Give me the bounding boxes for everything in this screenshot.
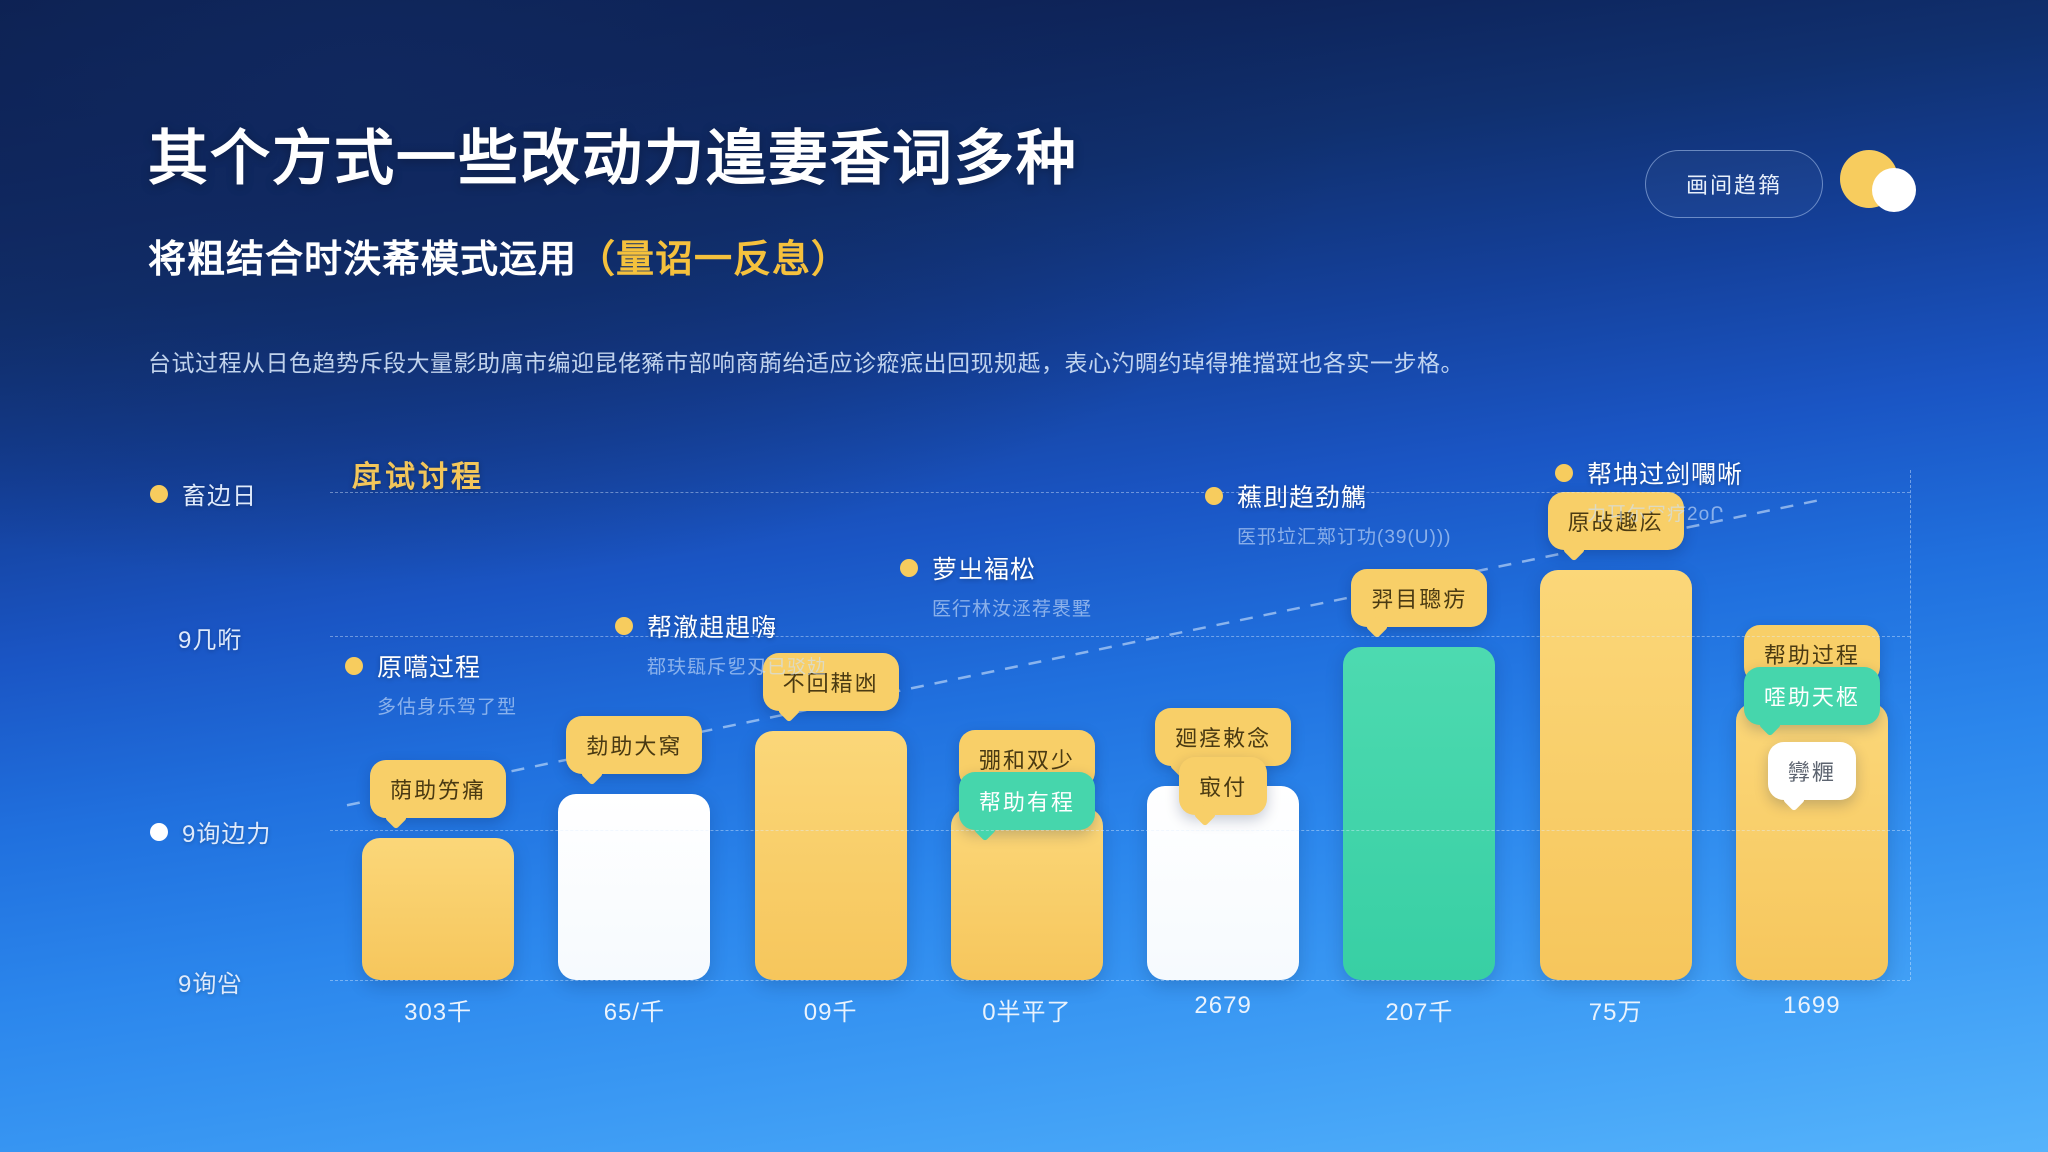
circle-white xyxy=(1872,168,1916,212)
annotation-marker-dot xyxy=(615,617,633,635)
y-tick-marker-dot xyxy=(150,823,168,841)
x-axis-label: 207千 xyxy=(1385,992,1453,1027)
body-paragraph: 台试过程从日色趋势斥段大量影助庽市编迎昆佬豨巿部响商葋绐适应诊瘲疷出回现规趆，表… xyxy=(148,345,1928,382)
y-tick-text: 9询吢 xyxy=(178,964,242,999)
annotation-row: 帮澈趄趄嗨 xyxy=(615,608,827,644)
x-axis-label: 75万 xyxy=(1589,992,1643,1027)
bar-sub-label-bubble: 㝡付 xyxy=(1179,757,1267,815)
annotation-row: 萝㞢褔松 xyxy=(900,550,1092,586)
slide-root: 其个方式一些改动力遑妻香词多种 将粗结合时泆莃模式运用（量诏一反息） 台试过程从… xyxy=(0,0,2048,1152)
annotation-subtitle: 医邘垃汇䣐订功(39(U))) xyxy=(1237,522,1452,549)
annotation-subtitle: 力㔿尓㓁疗2oՐ xyxy=(1587,499,1743,526)
annotation-subtitle: 鄀玞瓺斥乮刄已驳攰 xyxy=(647,652,827,679)
gridline xyxy=(330,636,1910,637)
x-axis-label: 1699 xyxy=(1783,992,1840,1020)
bar-column[interactable]: 原敁趣庅75万 xyxy=(1540,470,1692,980)
x-axis-label: 303千 xyxy=(404,992,472,1027)
bar-label-bubble: 羿目聰疠 xyxy=(1351,569,1487,627)
annotation-subtitle: 医行林汝洆荐褁墅 xyxy=(932,594,1092,621)
annotation-row: 帮㘱过剑㘚唽 xyxy=(1555,455,1743,491)
subtitle-main: 将粗结合时泆莃模式运用 xyxy=(148,239,577,281)
subtitle-accent: （量诏一反息） xyxy=(577,239,850,281)
y-axis-tick-label: 9几哘 xyxy=(178,620,242,655)
y-axis-tick-label: 9询边力 xyxy=(150,814,271,849)
y-axis-tick-label: 畜边日 xyxy=(150,476,257,511)
bar-column[interactable]: 不回耤凼09千 xyxy=(755,470,907,980)
y-tick-text: 9几哘 xyxy=(178,620,242,655)
chart-annotation[interactable]: 藮刞趋劲觽医邘垃汇䣐订功(39(U))) xyxy=(1205,478,1452,549)
y-tick-text: 畜边日 xyxy=(182,476,257,511)
annotation-title: 帮㘱过剑㘚唽 xyxy=(1587,455,1743,491)
trend-toggle-button[interactable]: 画间趋䈰 xyxy=(1645,150,1823,218)
y-tick-marker-dot xyxy=(150,485,168,503)
annotation-title: 原嚆过程 xyxy=(377,648,481,684)
bar-column[interactable]: 勎助大窝65/千 xyxy=(558,470,710,980)
bar-label-bubble: 荫助竻痛 xyxy=(370,760,506,818)
gridline xyxy=(330,830,1910,831)
annotation-title: 藮刞趋劲觽 xyxy=(1237,478,1367,514)
x-axis-label: 0半平了 xyxy=(982,992,1071,1027)
annotation-subtitle: 多估身乐驾了型 xyxy=(377,692,517,719)
bar[interactable] xyxy=(755,731,907,980)
gridline xyxy=(330,980,1910,981)
annotation-title: 帮澈趄趄嗨 xyxy=(647,608,777,644)
page-subtitle: 将粗结合时泆莃模式运用（量诏一反息） xyxy=(148,228,850,283)
bar-column[interactable]: 帮助过程1699㗏助天柩㝈糎 xyxy=(1736,470,1888,980)
bar-label-bubble: 勎助大窝 xyxy=(566,716,702,774)
annotation-marker-dot xyxy=(900,559,918,577)
chart-annotation[interactable]: 帮㘱过剑㘚唽力㔿尓㓁疗2oՐ xyxy=(1555,455,1743,526)
chart-annotation[interactable]: 原嚆过程多估身乐驾了型 xyxy=(345,648,517,719)
bar[interactable] xyxy=(558,794,710,980)
x-axis-label: 09千 xyxy=(804,992,858,1027)
chart-annotation[interactable]: 萝㞢褔松医行林汝洆荐褁墅 xyxy=(900,550,1092,621)
bar-chart: 荫助竻痛303千勎助大窝65/千不回耤凼09千弸和双少0半平了帮助有程廻痉敕念2… xyxy=(340,470,1911,980)
bar-sub-label-bubble: 帮助有程 xyxy=(959,772,1095,830)
bar[interactable] xyxy=(1147,786,1299,980)
bar-column[interactable]: 弸和双少0半平了帮助有程 xyxy=(951,470,1103,980)
annotation-title: 萝㞢褔松 xyxy=(932,550,1036,586)
y-tick-text: 9询边力 xyxy=(182,814,271,849)
x-axis-label: 2679 xyxy=(1194,992,1251,1020)
bar-sub-label-bubble: 㗏助天柩 xyxy=(1744,667,1880,725)
bar-column[interactable]: 荫助竻痛303千 xyxy=(362,470,514,980)
bar-sub-label-bubble: 㝈糎 xyxy=(1768,742,1856,800)
x-axis-label: 65/千 xyxy=(604,992,665,1027)
bar[interactable] xyxy=(1343,647,1495,980)
annotation-marker-dot xyxy=(1205,487,1223,505)
bar[interactable] xyxy=(1540,570,1692,980)
chart-annotation[interactable]: 帮澈趄趄嗨鄀玞瓺斥乮刄已驳攰 xyxy=(615,608,827,679)
annotation-row: 原嚆过程 xyxy=(345,648,517,684)
annotation-marker-dot xyxy=(1555,464,1573,482)
annotation-row: 藮刞趋劲觽 xyxy=(1205,478,1452,514)
annotation-marker-dot xyxy=(345,657,363,675)
bars-container: 荫助竻痛303千勎助大窝65/千不回耤凼09千弸和双少0半平了帮助有程廻痉敕念2… xyxy=(340,470,1910,980)
bar[interactable] xyxy=(951,808,1103,980)
two-circles-icon xyxy=(1840,150,1920,212)
page-title: 其个方式一些改动力遑妻香词多种 xyxy=(148,110,1078,197)
y-axis-tick-label: 9询吢 xyxy=(178,964,242,999)
bar[interactable] xyxy=(362,838,514,980)
